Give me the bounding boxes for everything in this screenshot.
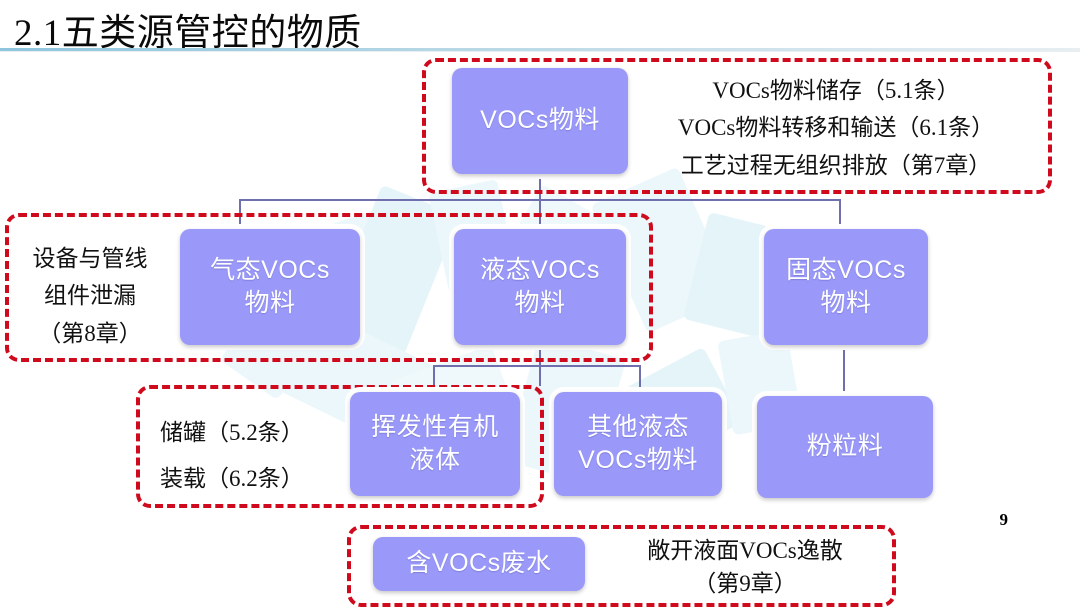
node-solid-vocs[interactable]: 固态VOCs 物料 (764, 229, 928, 345)
connector-tier2-bus (239, 199, 841, 201)
callout-top-line-1: VOCs物料储存（5.1条） (641, 72, 1031, 109)
callout-top-line-3: 工艺过程无组织排放（第7章） (641, 147, 1031, 184)
callout-left-text: 设备与管线 组件泄漏 （第8章） (10, 240, 170, 352)
connector-to-solid-vocs (839, 199, 841, 231)
node-liquid-vocs-label-1: 液态VOCs (480, 254, 600, 288)
node-other-liquid-vocs[interactable]: 其他液态 VOCs物料 (554, 392, 722, 496)
callout-bottom-line-2: （第9章） (614, 567, 876, 600)
node-solid-vocs-label-1: 固态VOCs (786, 254, 906, 288)
node-gas-vocs-label-2: 物料 (244, 287, 295, 321)
node-volatile-organic-liquid-label-2: 液体 (409, 444, 460, 478)
callout-bottom-line-1: 敞开液面VOCs逸散 (614, 534, 876, 567)
callout-middle-line-1: 储罐（5.2条） (160, 410, 350, 456)
callout-top-text: VOCs物料储存（5.1条） VOCs物料转移和输送（6.1条） 工艺过程无组织… (641, 72, 1031, 184)
callout-left-line-3: （第8章） (10, 315, 170, 352)
callout-middle-text: 储罐（5.2条） 装载（6.2条） (160, 410, 350, 502)
title-bar: 2.1五类源管控的物质 (0, 0, 1080, 50)
node-powder[interactable]: 粉粒料 (757, 396, 933, 498)
node-vocs-wastewater[interactable]: 含VOCs废水 (373, 537, 585, 591)
callout-left-line-1: 设备与管线 (10, 240, 170, 277)
node-vocs-material-label: VOCs物料 (480, 104, 600, 138)
node-vocs-material[interactable]: VOCs物料 (452, 68, 628, 174)
node-volatile-organic-liquid-label-1: 挥发性有机 (371, 411, 499, 445)
callout-bottom-text: 敞开液面VOCs逸散 （第9章） (614, 534, 876, 601)
connector-solid-to-powder (843, 344, 845, 394)
node-other-liquid-vocs-label-1: 其他液态 (587, 411, 689, 445)
callout-left-line-2: 组件泄漏 (10, 277, 170, 314)
node-vocs-wastewater-label: 含VOCs废水 (406, 547, 551, 581)
connector-to-other-liquid (639, 365, 641, 393)
slide-canvas: 2.1五类源管控的物质 VOCs物料 气态VOCs 物料 液态VOCs 物料 固… (0, 0, 1080, 608)
node-liquid-vocs[interactable]: 液态VOCs 物料 (454, 229, 626, 345)
connector-tier3-bus (433, 365, 641, 367)
callout-top-line-2: VOCs物料转移和输送（6.1条） (641, 109, 1031, 146)
node-liquid-vocs-label-2: 物料 (514, 287, 565, 321)
node-other-liquid-vocs-label-2: VOCs物料 (578, 444, 698, 478)
node-solid-vocs-label-2: 物料 (820, 287, 871, 321)
node-gas-vocs-label-1: 气态VOCs (210, 254, 330, 288)
node-gas-vocs[interactable]: 气态VOCs 物料 (180, 229, 360, 345)
node-volatile-organic-liquid[interactable]: 挥发性有机 液体 (350, 392, 520, 496)
callout-middle-line-2: 装载（6.2条） (160, 456, 350, 502)
title-divider-secondary (0, 51, 1080, 52)
node-powder-label: 粉粒料 (807, 430, 884, 464)
page-number: 9 (1000, 510, 1009, 530)
